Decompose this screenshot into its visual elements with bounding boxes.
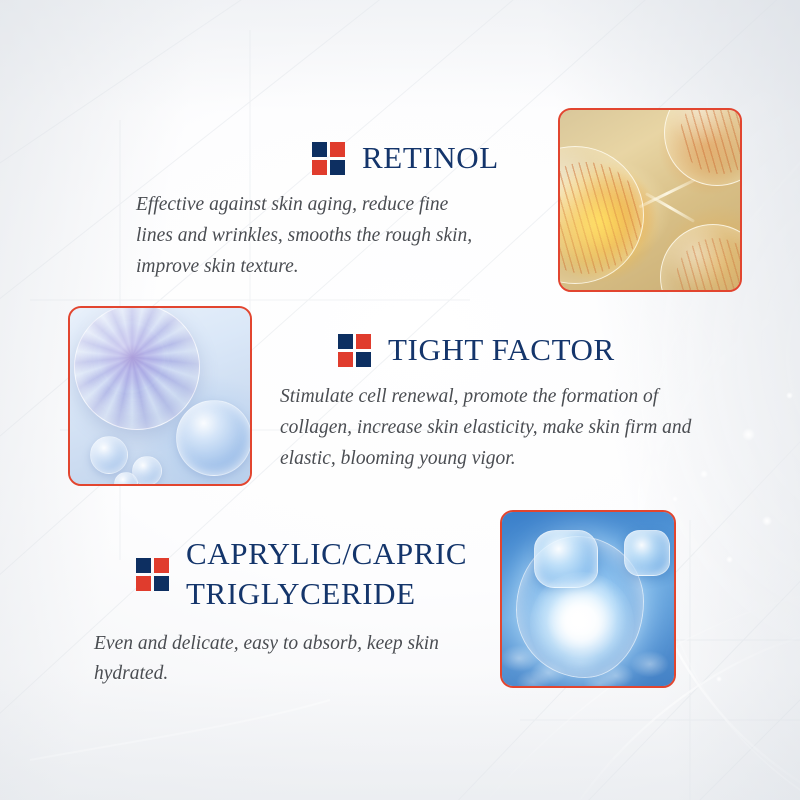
four-square-logo-icon [136,558,169,591]
triglyceride-heading: CAPRYLIC/CAPRIC TRIGLYCERIDE [186,534,467,615]
sparkle-dot [786,392,793,399]
tight-factor-heading-row: TIGHT FACTOR [278,330,758,370]
tight-factor-body-text: Stimulate cell renewal, promote the form… [280,382,758,474]
tight-factor-violet-spheres-image [68,306,252,486]
section-tight-factor: TIGHT FACTOR Stimulate cell renewal, pro… [278,330,758,475]
triglyceride-heading-row: CAPRYLIC/CAPRIC TRIGLYCERIDE [88,534,508,615]
sparkle-dot [762,516,772,526]
infographic-page: RETINOL Effective against skin aging, re… [0,0,800,800]
retinol-body-text: Effective against skin aging, reduce fin… [136,190,548,282]
four-square-logo-icon [312,142,345,175]
four-square-logo-icon [338,334,371,367]
sparkle-dot [672,496,678,502]
triglyceride-ice-droplet-image [500,510,676,688]
sparkle-dot [726,556,733,563]
retinol-heading-row: RETINOL [128,138,548,178]
section-retinol: RETINOL Effective against skin aging, re… [128,138,548,283]
section-caprylic-capric-triglyceride: CAPRYLIC/CAPRIC TRIGLYCERIDE Even and de… [88,534,508,690]
retinol-golden-molecule-image [558,108,742,292]
tight-factor-heading: TIGHT FACTOR [388,330,615,370]
sparkle-dot [716,676,722,682]
retinol-heading: RETINOL [362,138,499,178]
triglyceride-body-text: Even and delicate, easy to absorb, keep … [94,629,508,691]
